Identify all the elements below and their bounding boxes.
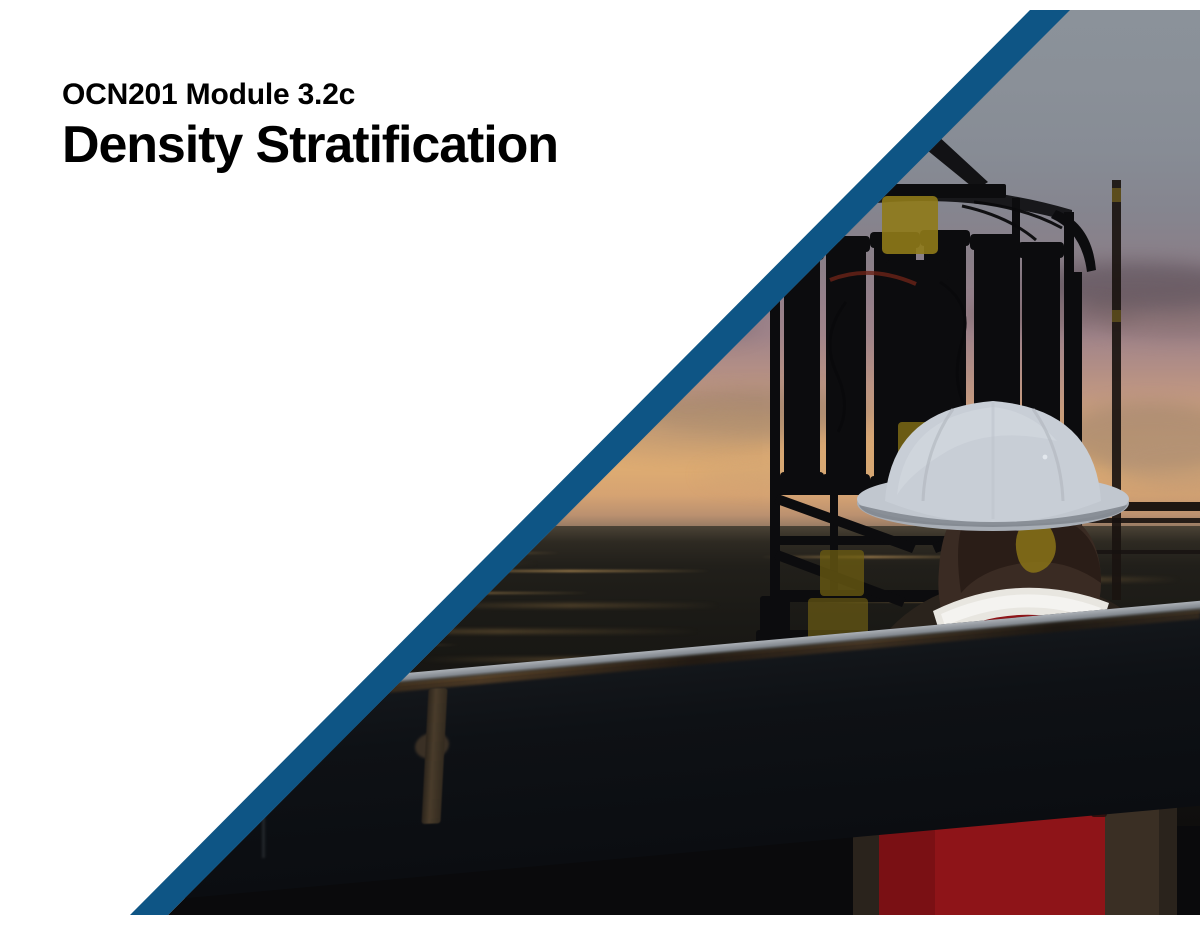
ship-stanchion xyxy=(1112,310,1121,322)
page-title: Density Stratification xyxy=(62,117,558,173)
module-eyebrow: OCN201 Module 3.2c xyxy=(62,78,558,111)
bulwark-seam xyxy=(262,698,265,858)
slide-canvas: OCN201 Module 3.2c Density Stratificatio… xyxy=(0,0,1200,927)
ship-stanchion xyxy=(1112,188,1121,202)
cloud-band xyxy=(560,310,760,344)
deck-cleat xyxy=(421,688,447,824)
title-block: OCN201 Module 3.2c Density Stratificatio… xyxy=(62,78,558,173)
